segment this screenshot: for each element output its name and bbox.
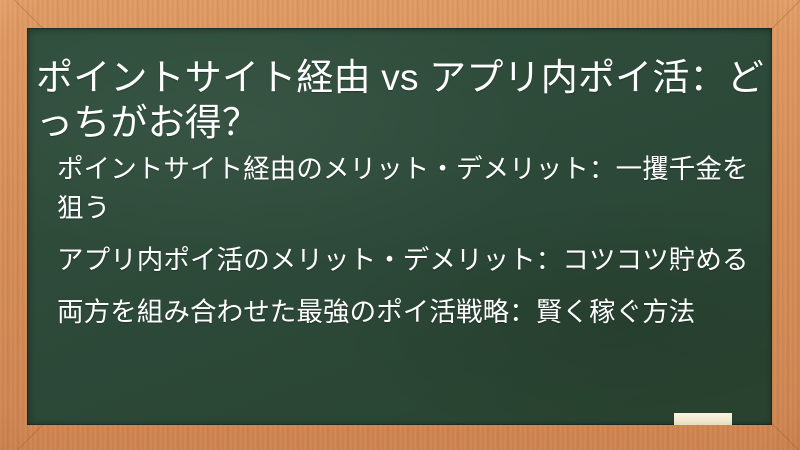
list-item: アプリ内ポイ活のメリット・デメリット：コツコツ貯める bbox=[57, 241, 757, 280]
chalkboard-surface: ポイントサイト経由 vs アプリ内ポイ活：どっちがお得？ ポイントサイト経由のメ… bbox=[27, 28, 772, 425]
page-title: ポイントサイト経由 vs アプリ内ポイ活：どっちがお得？ bbox=[36, 55, 764, 145]
chalk-piece-icon bbox=[674, 413, 732, 425]
blackboard-frame: ポイントサイト経由 vs アプリ内ポイ活：どっちがお得？ ポイントサイト経由のメ… bbox=[0, 0, 800, 450]
outline-list: ポイントサイト経由のメリット・デメリット：一攫千金を狙う アプリ内ポイ活のメリッ… bbox=[57, 150, 757, 332]
list-item: ポイントサイト経由のメリット・デメリット：一攫千金を狙う bbox=[57, 150, 757, 228]
list-item: 両方を組み合わせた最強のポイ活戦略：賢く稼ぐ方法 bbox=[57, 293, 757, 332]
